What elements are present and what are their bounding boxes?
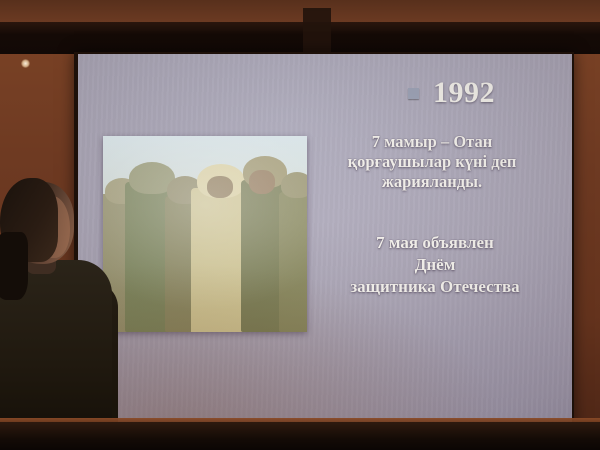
bullet-square-icon <box>408 88 419 99</box>
photo-soldier <box>191 188 247 332</box>
light-reflection-glint-icon <box>21 59 30 68</box>
screen-mount-bracket <box>303 8 331 54</box>
slide-photo-image <box>103 136 307 332</box>
slide-text-russian: 7 мая объявлен Днём защитника Отечества <box>316 232 554 298</box>
slide-text-russian-line-3: защитника Отечества <box>316 276 554 298</box>
slide-text-kazakh-line-3: жарияланды. <box>316 172 548 192</box>
slide-text-kazakh: 7 мамыр – Отан қорғаушылар күні деп жари… <box>316 132 548 192</box>
projection-screen: 1992 <box>78 54 572 428</box>
photo-face <box>249 170 275 194</box>
room-photo-scene: 1992 <box>0 0 600 450</box>
slide-title-row: 1992 <box>408 78 495 108</box>
slide-text-kazakh-line-1: 7 мамыр – Отан <box>316 132 548 152</box>
ceiling-beam-shadow <box>0 22 600 54</box>
photo-soldier <box>279 192 307 332</box>
slide-text-kazakh-line-2: қорғаушылар күні деп <box>316 152 548 172</box>
photo-face <box>207 176 233 198</box>
presenter-silhouette <box>0 180 124 450</box>
presenter-hair-back <box>0 232 28 300</box>
slide-text-russian-line-2: Днём <box>316 254 554 276</box>
presentation-slide: 1992 <box>78 54 572 428</box>
slide-text-russian-line-1: 7 мая объявлен <box>316 232 554 254</box>
wall-upper-band <box>0 0 600 22</box>
photo-helmet-icon <box>281 172 307 198</box>
slide-year-title: 1992 <box>433 78 495 108</box>
slide-photo <box>103 136 307 332</box>
foreground-dark-area <box>0 422 600 450</box>
